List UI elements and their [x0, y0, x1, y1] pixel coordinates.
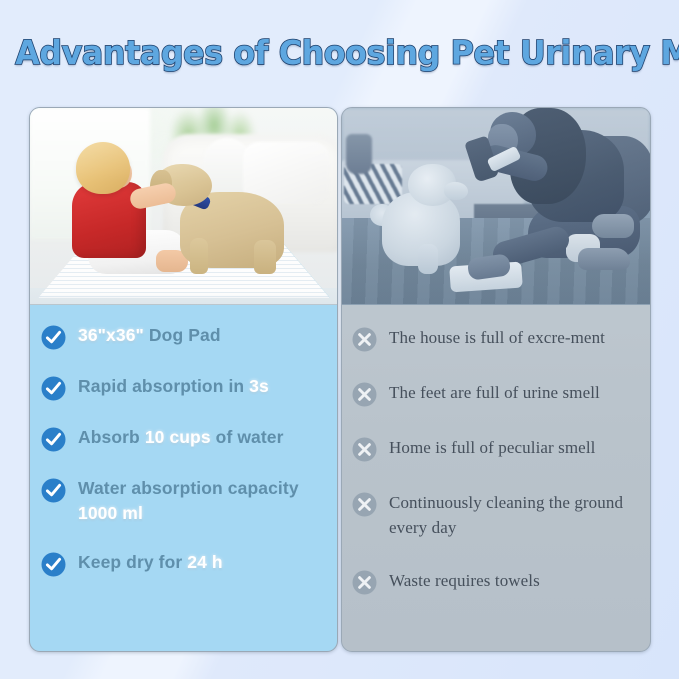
- check-circle-icon: [41, 325, 66, 350]
- disadvantage-text: Home is full of peculiar smell: [389, 435, 595, 460]
- advantage-highlight: 36"x36": [78, 325, 144, 345]
- happy-pet-photo: [30, 108, 337, 305]
- list-item: Continuously cleaning the ground every d…: [352, 490, 642, 540]
- cross-circle-icon: [352, 570, 377, 595]
- list-item: Waste requires towels: [352, 568, 642, 595]
- list-item: Absorb 10 cups of water: [41, 425, 327, 452]
- list-item: Water absorption capacity 1000 ml: [41, 476, 327, 526]
- advantage-highlight: 3s: [249, 376, 269, 396]
- advantage-highlight: 24 h: [187, 552, 222, 572]
- page-title-container: Advantages of Choosing Pet Urinary Mats: [0, 33, 679, 72]
- advantages-list: 36"x36" Dog Pad Rapid absorption in 3s: [30, 305, 337, 611]
- advantage-text: Keep dry for 24 h: [78, 550, 223, 575]
- check-circle-icon: [41, 427, 66, 452]
- cross-circle-icon: [352, 327, 377, 352]
- advantage-suffix: Dog Pad: [144, 325, 221, 345]
- disadvantage-text: Continuously cleaning the ground every d…: [389, 490, 642, 540]
- vase-shape: [346, 134, 372, 174]
- cleaning-floor-photo: [342, 108, 650, 305]
- puppy-front-leg: [190, 238, 208, 274]
- disadvantage-text: The house is full of excre-ment: [389, 325, 605, 350]
- advantage-prefix: Water absorption capacity: [78, 478, 299, 498]
- disadvantage-text: Waste requires towels: [389, 568, 540, 593]
- infographic-page: Advantages of Choosing Pet Urinary Mats: [0, 0, 679, 679]
- panels-container: 36"x36" Dog Pad Rapid absorption in 3s: [29, 107, 651, 652]
- advantage-prefix: Absorb: [78, 427, 145, 447]
- list-item: The feet are full of urine smell: [352, 380, 642, 407]
- check-circle-icon: [41, 552, 66, 577]
- disadvantage-text: The feet are full of urine smell: [389, 380, 600, 405]
- woman-shoe-back: [592, 214, 634, 238]
- list-item: Rapid absorption in 3s: [41, 374, 327, 401]
- list-item: The house is full of excre-ment: [352, 325, 642, 352]
- dog-snout: [444, 182, 468, 200]
- disadvantages-list: The house is full of excre-ment The feet…: [342, 305, 650, 633]
- advantage-text: 36"x36" Dog Pad: [78, 323, 221, 348]
- advantages-panel: 36"x36" Dog Pad Rapid absorption in 3s: [29, 107, 338, 652]
- advantage-suffix: of water: [211, 427, 284, 447]
- check-circle-icon: [41, 376, 66, 401]
- advantage-highlight: 1000 ml: [78, 503, 143, 523]
- list-item: 36"x36" Dog Pad: [41, 323, 327, 350]
- woman-shoe-front: [578, 248, 630, 270]
- cross-circle-icon: [352, 492, 377, 517]
- advantage-text: Water absorption capacity 1000 ml: [78, 476, 327, 526]
- advantage-text: Rapid absorption in 3s: [78, 374, 269, 399]
- puppy-hind-leg: [254, 240, 276, 274]
- check-circle-icon: [41, 478, 66, 503]
- list-item: Keep dry for 24 h: [41, 550, 327, 577]
- cross-circle-icon: [352, 382, 377, 407]
- advantage-text: Absorb 10 cups of water: [78, 425, 284, 450]
- list-item: Home is full of peculiar smell: [352, 435, 642, 462]
- advantage-prefix: Rapid absorption in: [78, 376, 249, 396]
- page-title: Advantages of Choosing Pet Urinary Mats: [15, 33, 679, 72]
- advantage-highlight: 10 cups: [145, 427, 211, 447]
- cross-circle-icon: [352, 437, 377, 462]
- advantage-prefix: Keep dry for: [78, 552, 187, 572]
- disadvantages-panel: The house is full of excre-ment The feet…: [341, 107, 651, 652]
- dog-leg: [418, 244, 438, 274]
- child-head: [76, 142, 130, 194]
